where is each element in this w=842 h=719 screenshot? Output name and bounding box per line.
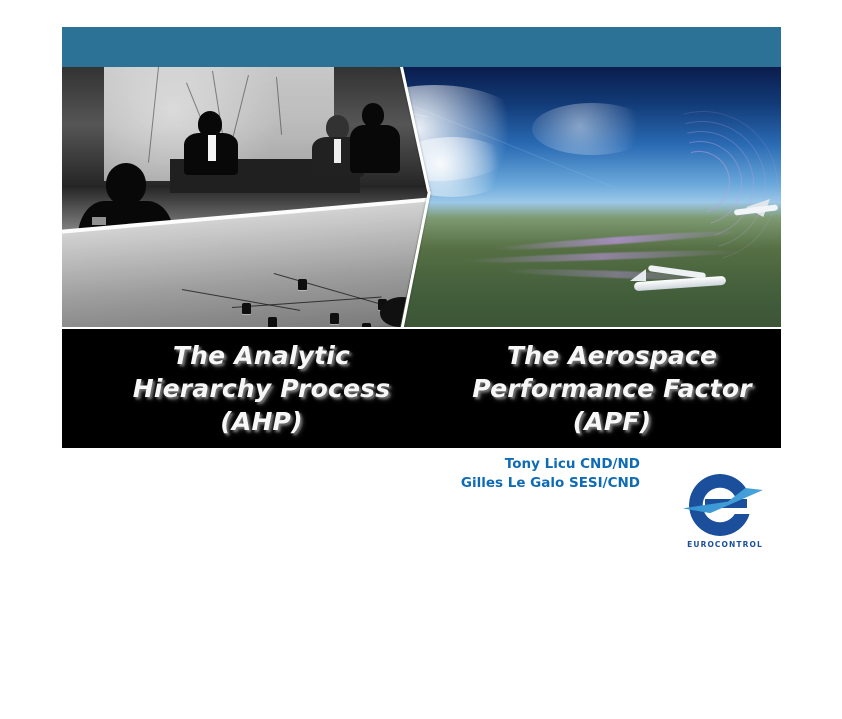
title-right-line-2: Performance Factor <box>472 373 751 404</box>
plot-marker <box>268 317 277 327</box>
header-bar <box>62 27 781 67</box>
title-left-line-2: Hierarchy Process <box>133 373 391 404</box>
eurocontrol-logo-icon <box>683 472 763 538</box>
title-left-line-3: (AHP) <box>220 406 302 437</box>
aircraft-small <box>622 263 742 309</box>
title-left-line-1: The Analytic <box>173 340 350 371</box>
author-line-1: Tony Licu CND/ND <box>400 455 640 474</box>
aircraft-jet <box>734 195 780 225</box>
plot-marker <box>362 323 371 327</box>
eurocontrol-logo-text: EUROCONTROL <box>679 540 771 549</box>
title-right-line-3: (APF) <box>573 406 652 437</box>
plot-marker <box>242 303 251 314</box>
title-right: The Aerospace Performance Factor (APF) <box>462 329 762 448</box>
author-block: Tony Licu CND/ND Gilles Le Galo SESI/CND <box>400 455 640 493</box>
title-right-line-1: The Aerospace <box>507 340 717 371</box>
title-left: The Analytic Hierarchy Process (AHP) <box>84 329 439 448</box>
radar-line <box>392 97 615 188</box>
slide-canvas: GTTSR TURN2.GHU GTT563 DI 3B1 D07Z 13 13… <box>0 0 842 595</box>
plot-marker <box>298 279 307 290</box>
title-band: The Analytic Hierarchy Process (AHP) & T… <box>62 329 781 448</box>
eurocontrol-logo: EUROCONTROL <box>679 472 771 560</box>
operations-room-photo <box>62 67 442 327</box>
plot-marker <box>330 313 339 324</box>
cloud <box>532 103 652 155</box>
hero-image: GTTSR TURN2.GHU GTT563 DI 3B1 D07Z 13 13… <box>62 67 781 327</box>
title-conjunction: & <box>414 701 426 719</box>
author-line-2: Gilles Le Galo SESI/CND <box>400 474 640 493</box>
